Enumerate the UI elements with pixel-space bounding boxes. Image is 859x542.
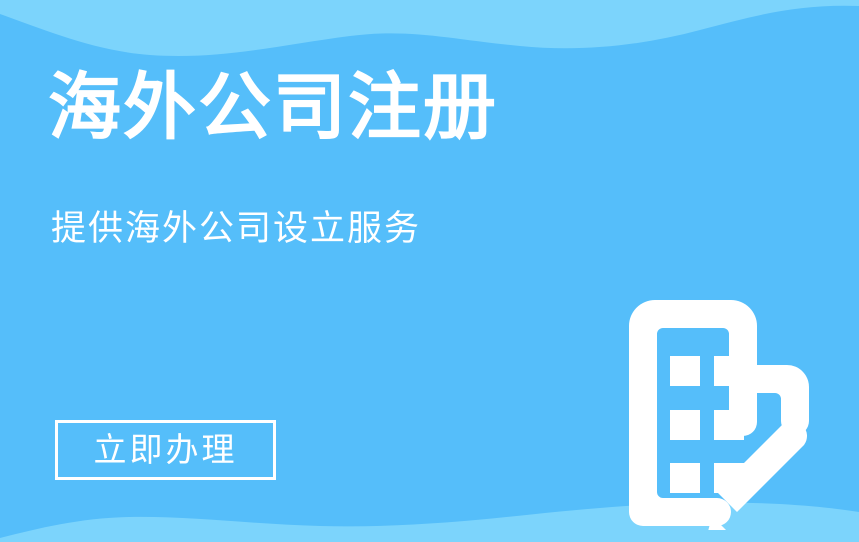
building-edit-icon-svg [607,300,827,530]
banner-content: 海外公司注册 提供海外公司设立服务 立即办理 [0,0,859,542]
building-window [670,463,700,493]
building-window [714,410,744,440]
page-subtitle: 提供海外公司设立服务 [51,208,421,250]
building-window [670,410,700,440]
apply-now-button[interactable]: 立即办理 [55,420,276,480]
overseas-company-registration-banner: 海外公司注册 提供海外公司设立服务 立即办理 [0,0,859,542]
page-title: 海外公司注册 [48,70,498,147]
building-window [670,356,700,386]
building-edit-icon [607,300,827,530]
